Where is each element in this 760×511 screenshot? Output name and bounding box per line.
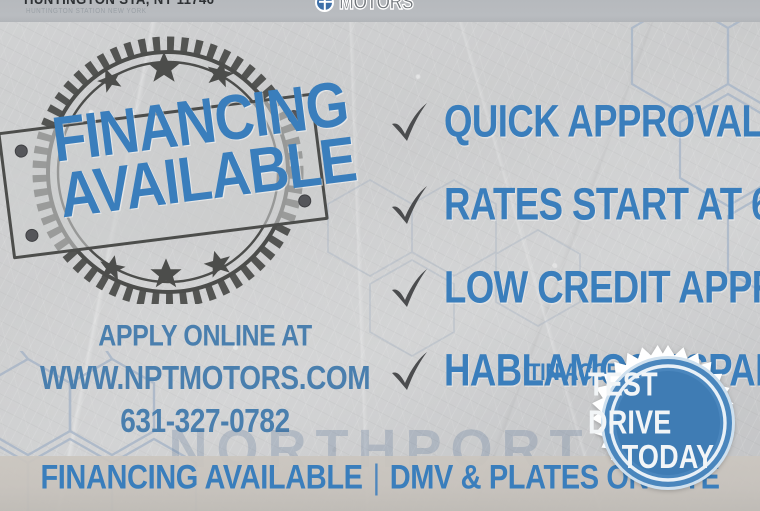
dealer-address-sub: HUNTINGTON STATION NEW YORK xyxy=(26,8,147,15)
checklist-item: QUICK APPROVAL xyxy=(388,80,760,163)
checklist-item: LOW CREDIT APPROVED xyxy=(388,246,760,329)
check-icon xyxy=(388,100,430,144)
test-drive-badge[interactable]: TEST DRIVE TODAY xyxy=(588,343,748,503)
checklist-label: QUICK APPROVAL xyxy=(444,96,760,147)
checklist-label: RATES START AT 6.2% xyxy=(444,179,760,230)
check-icon xyxy=(388,349,430,393)
dealer-address: HUNTINGTON STA, NY 11746 xyxy=(24,0,214,8)
dealer-logo-text: MOTORS xyxy=(339,0,413,15)
dealer-logo: MOTORS xyxy=(315,0,429,15)
bottom-separator: | xyxy=(363,459,390,497)
rivet-icon xyxy=(25,228,40,243)
bottom-left-text: FINANCING AVAILABLE xyxy=(40,459,362,497)
stamp-text: FINANCING AVAILABLE xyxy=(52,84,323,221)
top-bar: HUNTINGTON STA, NY 11746 HUNTINGTON STAT… xyxy=(0,0,760,22)
badge-seal-graphic xyxy=(588,343,748,503)
check-icon xyxy=(388,266,430,310)
financing-stamp: FINANCING AVAILABLE xyxy=(8,34,328,304)
check-icon xyxy=(388,183,430,227)
apply-heading: APPLY ONLINE AT xyxy=(40,319,370,354)
flyer-canvas: HUNTINGTON STA, NY 11746 HUNTINGTON STAT… xyxy=(0,0,760,511)
checklist-item: RATES START AT 6.2% xyxy=(388,163,760,246)
checklist-label: LOW CREDIT APPROVED xyxy=(444,262,760,313)
crosshair-icon xyxy=(315,0,334,12)
website-link[interactable]: WWW.NPTMOTORS.COM xyxy=(40,359,370,397)
rivet-icon xyxy=(14,144,29,159)
